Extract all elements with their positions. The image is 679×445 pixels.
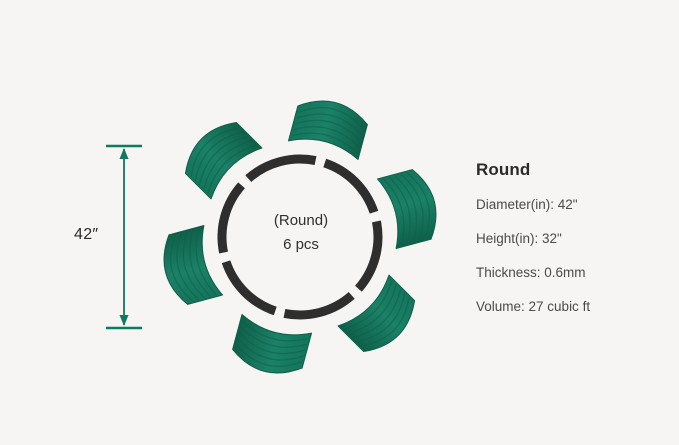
curved-panel (176, 113, 262, 199)
dimension-arrowhead-top (120, 148, 129, 159)
panel-body (377, 166, 443, 248)
panel-body (156, 225, 222, 307)
spec-line-height: Height(in): 32" (476, 230, 666, 247)
spec-line-volume: Volume: 27 cubic ft (476, 298, 666, 315)
spec-title: Round (476, 160, 666, 180)
curved-panel (377, 166, 443, 248)
ring-segment (325, 163, 374, 212)
dimension-label: 42″ (74, 226, 98, 244)
ring-segment (284, 295, 351, 315)
panel-body (288, 93, 370, 159)
curved-panel (156, 225, 222, 307)
dimension-arrow (106, 146, 142, 328)
spec-panel: Round Diameter(in): 42" Height(in): 32" … (476, 160, 666, 315)
panel-body (176, 113, 262, 199)
panel-body (229, 314, 311, 380)
ring-segment (248, 159, 315, 179)
diagram-canvas: (Round) 6 pcs 42″ Round Diameter(in): 42… (0, 0, 679, 445)
dimension-arrowhead-bottom (120, 315, 129, 326)
curved-panel (338, 275, 424, 361)
ring-center-label-line1: (Round) (240, 209, 362, 233)
spec-line-diameter: Diameter(in): 42" (476, 196, 666, 213)
ring-segment (226, 262, 275, 311)
panel-body (338, 275, 424, 361)
ring-segment (222, 185, 242, 252)
ring-center-label: (Round) 6 pcs (240, 209, 362, 257)
spec-line-thickness: Thickness: 0.6mm (476, 264, 666, 281)
curved-panel (229, 314, 311, 380)
curved-panel (288, 93, 370, 159)
ring-center-label-line2: 6 pcs (240, 233, 362, 257)
